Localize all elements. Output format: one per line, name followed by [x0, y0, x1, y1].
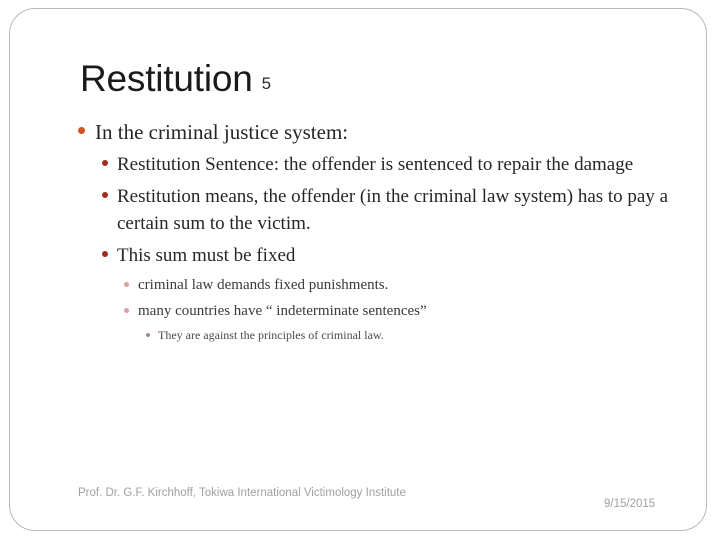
list-item: Restitution means, the offender (in the …	[102, 183, 688, 237]
slide-content-body: In the criminal justice system: Restitut…	[78, 118, 688, 344]
bullet-dot-icon	[102, 251, 108, 257]
bullet-dot-icon	[124, 282, 129, 287]
list-item: criminal law demands fixed punishments.	[124, 274, 688, 296]
sublist-level-3: criminal law demands fixed punishments. …	[124, 274, 688, 344]
list-item-label: criminal law demands fixed punishments.	[138, 274, 688, 296]
list-item: This sum must be fixed	[102, 242, 688, 269]
footer-date: 9/15/2015	[604, 498, 655, 510]
page-title: Restitution	[80, 58, 253, 99]
list-item: many countries have “ indeterminate sent…	[124, 300, 688, 322]
presentation-slide: Restitution5 In the criminal justice sys…	[0, 0, 720, 539]
list-item: Restitution Sentence: the offender is se…	[102, 151, 688, 178]
bullet-dot-icon	[146, 333, 150, 337]
list-item: They are against the principles of crimi…	[146, 326, 688, 344]
list-item-label: many countries have “ indeterminate sent…	[138, 300, 688, 322]
bullet-dot-icon	[78, 127, 85, 134]
list-item: In the criminal justice system:	[78, 118, 688, 146]
slide-title: Restitution5	[80, 58, 271, 100]
page-title-number: 5	[262, 74, 271, 93]
list-item-label: This sum must be fixed	[117, 242, 688, 269]
bullet-dot-icon	[102, 192, 108, 198]
footer-author: Prof. Dr. G.F. Kirchhoff, Tokiwa Interna…	[78, 486, 408, 501]
bullet-dot-icon	[124, 308, 129, 313]
list-item-label: Restitution means, the offender (in the …	[117, 183, 688, 237]
list-item-label: They are against the principles of crimi…	[158, 326, 688, 344]
list-item-label: Restitution Sentence: the offender is se…	[117, 151, 688, 178]
bullet-dot-icon	[102, 160, 108, 166]
sublist-level-2: Restitution Sentence: the offender is se…	[102, 151, 688, 344]
list-item-label: In the criminal justice system:	[95, 118, 688, 146]
sublist-level-4: They are against the principles of crimi…	[146, 326, 688, 344]
